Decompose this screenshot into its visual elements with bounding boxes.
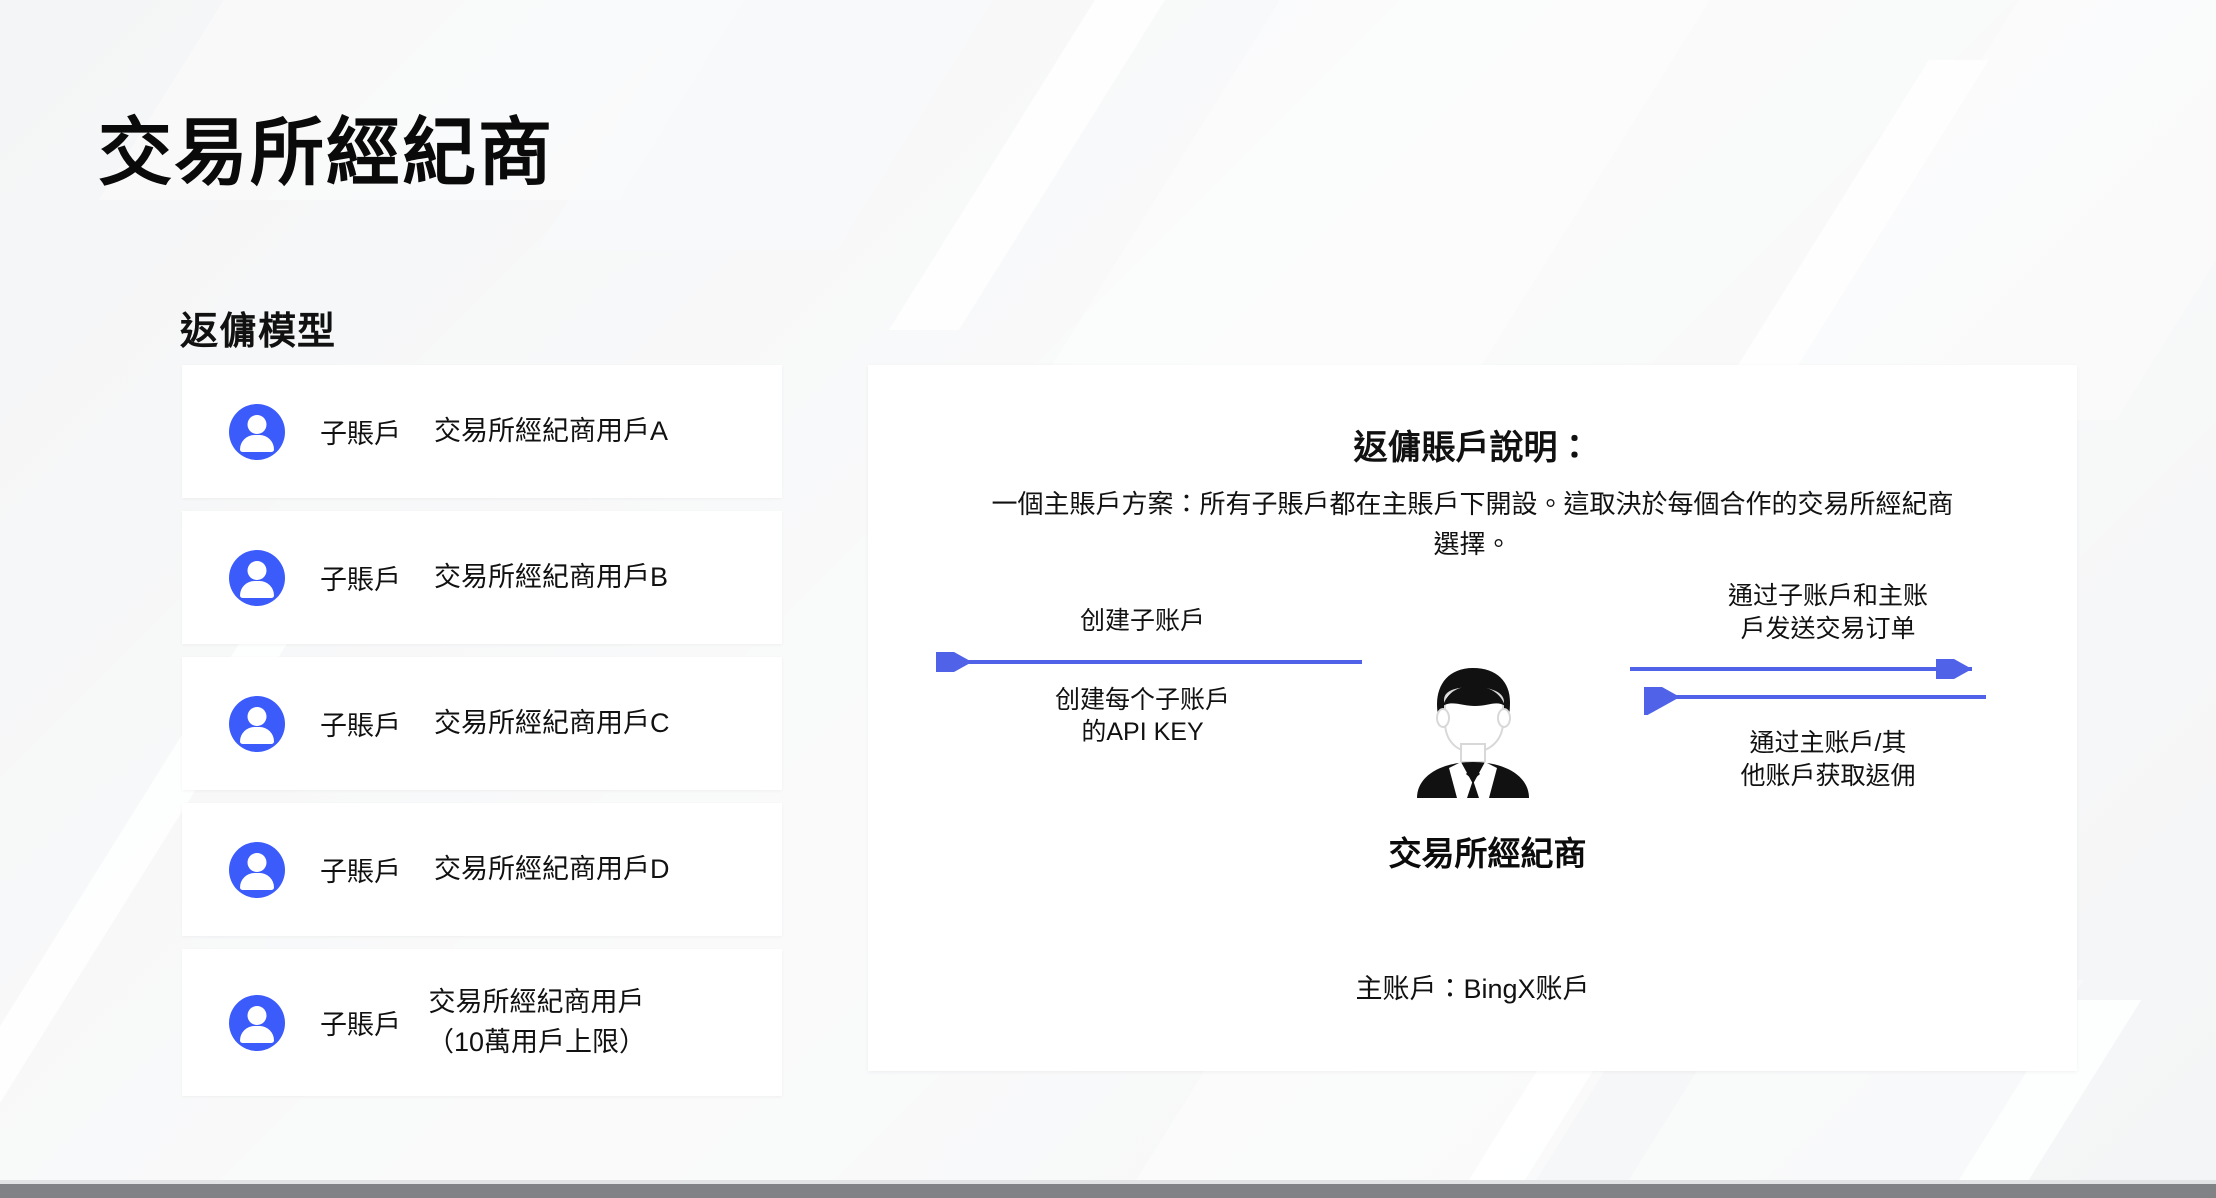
panel-heading: 返傭賬戶說明：: [868, 420, 2077, 469]
page-title: 交易所經紀商: [98, 112, 554, 193]
background-decoration-4: [1018, 0, 1773, 420]
account-role-label: 子賬戶: [320, 704, 401, 743]
right-arrow-top-label: 通过子账户和主账 户发送交易订单: [1628, 580, 2028, 645]
slide-canvas: 交易所經紀商 返傭模型 子賬戶 交易所經紀商用戶A 子賬戶 交易所經紀商用戶B …: [0, 0, 2216, 1198]
user-avatar-icon: [229, 404, 285, 460]
account-name-label: 交易所經紀商用戶 （10萬用戶上限）: [427, 983, 646, 1061]
account-role-label: 子賬戶: [320, 412, 401, 451]
account-role-label: 子賬戶: [320, 850, 401, 889]
user-avatar-icon: [229, 842, 285, 898]
account-card[interactable]: 子賬戶 交易所經紀商用戶A: [182, 365, 782, 498]
account-card-list: 子賬戶 交易所經紀商用戶A 子賬戶 交易所經紀商用戶B 子賬戶 交易所經紀商用戶…: [182, 365, 782, 1096]
account-card[interactable]: 子賬戶 交易所經紀商用戶D: [182, 803, 782, 936]
account-card[interactable]: 子賬戶 交易所經紀商用戶B: [182, 511, 782, 644]
main-account-note: 主账户：BingX账户: [868, 967, 2077, 1006]
account-name-line-1: 交易所經紀商用戶: [427, 983, 646, 1022]
broker-caption: 交易所經紀商: [1389, 827, 1557, 875]
account-name-label: 交易所經紀商用戶B: [434, 558, 668, 597]
right-arrow-bottom-label: 通过主账户/其 他账户获取返佣: [1628, 727, 2028, 792]
left-arrow-top-label: 创建子账户: [920, 605, 1365, 638]
user-avatar-icon: [229, 696, 285, 752]
background-decoration-3: [889, 0, 1221, 330]
account-name-line-2: （10萬用戶上限）: [427, 1023, 646, 1062]
background-decoration-6: [1756, 0, 2216, 420]
user-avatar-icon: [229, 995, 285, 1051]
broker-figure: 交易所經紀商: [1389, 662, 1557, 875]
account-name-label: 交易所經紀商用戶A: [434, 412, 668, 451]
account-card[interactable]: 子賬戶 交易所經紀商用戶 （10萬用戶上限）: [182, 949, 782, 1096]
background-decoration-2: [537, 0, 1043, 250]
account-role-label: 子賬戶: [320, 558, 401, 597]
account-name-label: 交易所經紀商用戶C: [434, 704, 670, 743]
left-arrow-group: 创建子账户 创建每个子账户 的API KEY: [920, 605, 1365, 749]
account-role-label: 子賬戶: [320, 1003, 401, 1042]
user-avatar-icon: [229, 550, 285, 606]
send-order-arrow-icon: [1628, 659, 1988, 679]
left-arrow-bottom-label: 创建每个子账户 的API KEY: [920, 684, 1365, 749]
create-subaccount-arrow-icon: [920, 652, 1365, 672]
account-name-label: 交易所經紀商用戶D: [434, 850, 670, 889]
section-title: 返傭模型: [180, 300, 336, 355]
rebate-info-panel: 返傭賬戶說明： 一個主賬戶方案：所有子賬戶都在主賬戶下開設。這取決於每個合作的交…: [868, 365, 2077, 1071]
bottom-strip: [0, 1184, 2216, 1198]
account-card[interactable]: 子賬戶 交易所經紀商用戶C: [182, 657, 782, 790]
businessman-icon: [1393, 662, 1553, 802]
panel-description: 一個主賬戶方案：所有子賬戶都在主賬戶下開設。這取決於每個合作的交易所經紀商選擇。: [980, 484, 1965, 565]
right-arrow-group: 通过子账户和主账 户发送交易订单 通过主账户/其 他账户: [1628, 580, 2028, 792]
receive-rebate-arrow-icon: [1628, 687, 1988, 715]
